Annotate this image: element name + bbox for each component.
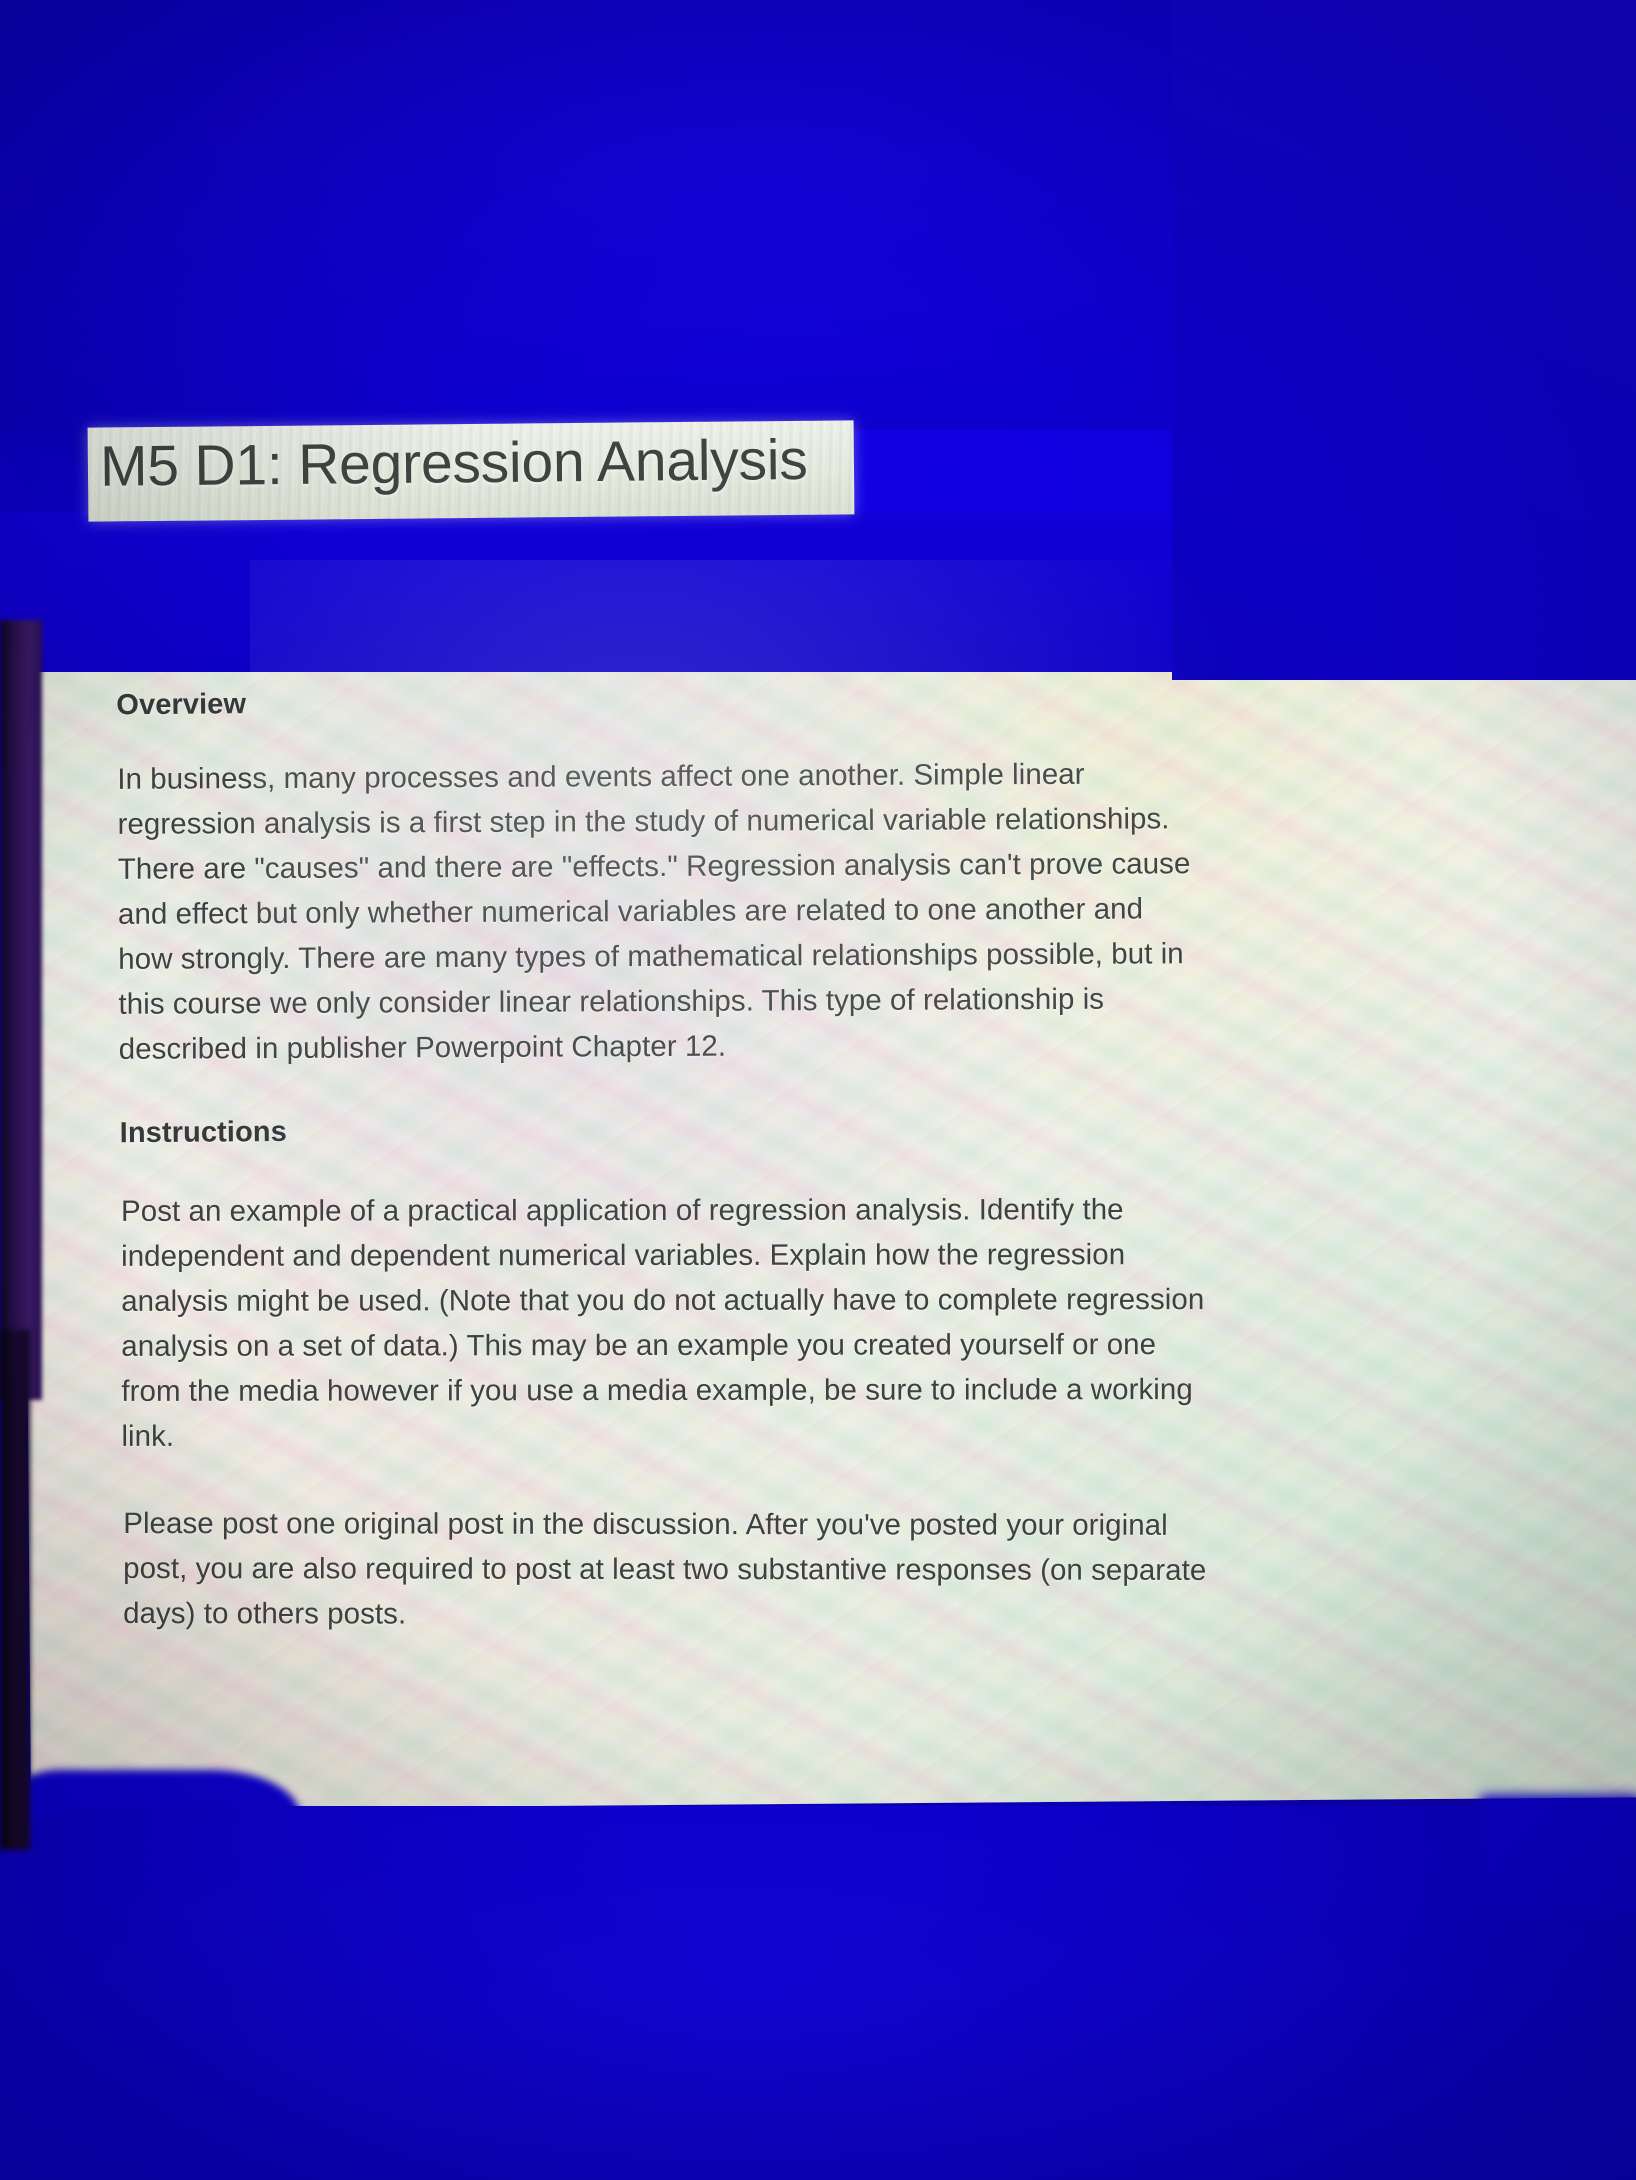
photographed-screen: Overview In business, many processes and…: [0, 0, 1636, 2180]
document-body: Overview In business, many processes and…: [116, 681, 1208, 1641]
blue-background-bottom-right: [1480, 1795, 1636, 1915]
blue-background-right: [1172, 0, 1636, 680]
blue-background-middle: [0, 512, 1230, 672]
posting-requirements-paragraph: Please post one original post in the dis…: [123, 1501, 1208, 1638]
monitor-bezel-edge-lower: [0, 1330, 30, 1850]
overview-heading: Overview: [116, 681, 1201, 723]
instructions-heading: Instructions: [120, 1109, 1205, 1151]
document-content-panel: Overview In business, many processes and…: [22, 647, 1636, 1810]
page-title: M5 D1: Regression Analysis: [100, 426, 881, 499]
instructions-paragraph: Post an example of a practical applicati…: [121, 1187, 1206, 1459]
blue-background-bottom: [0, 1806, 1636, 2180]
monitor-bezel-edge: [0, 620, 42, 1400]
overview-paragraph: In business, many processes and events a…: [117, 751, 1204, 1072]
